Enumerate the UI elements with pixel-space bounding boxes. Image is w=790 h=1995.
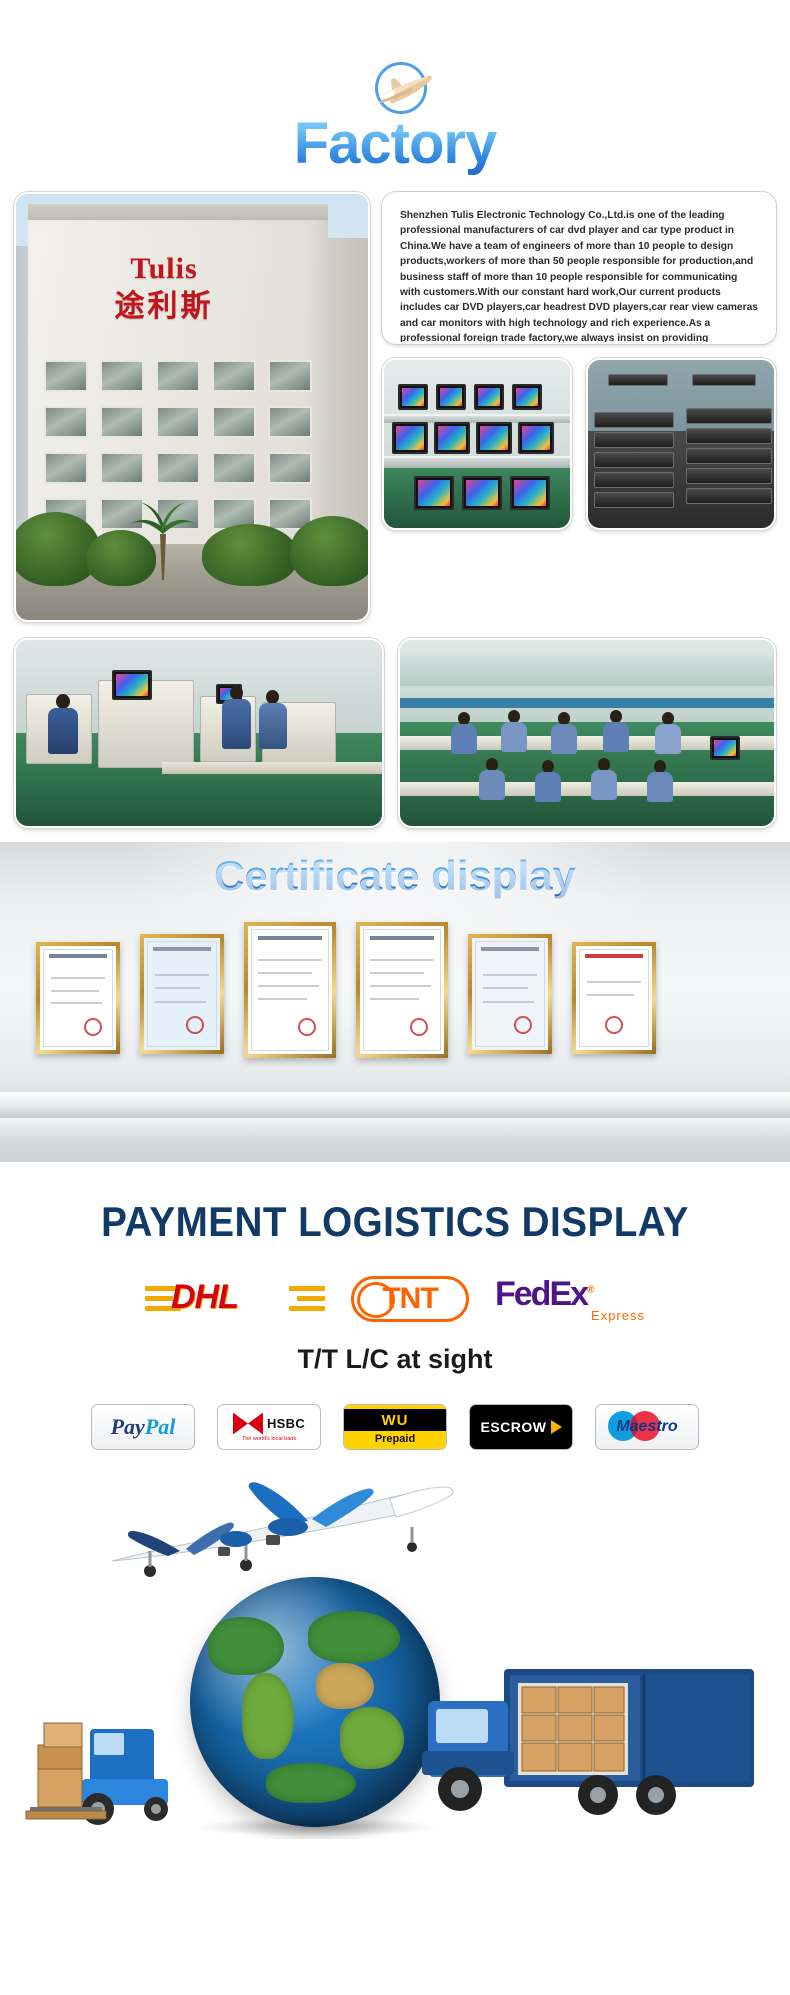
factory-photo-grid: Tulis 途利斯	[0, 192, 790, 842]
certificate-3[interactable]	[244, 922, 336, 1058]
certificate-6[interactable]	[572, 942, 656, 1054]
airplane-glyph	[371, 68, 433, 112]
smt-line-photo	[14, 638, 384, 828]
payment-terms: T/T L/C at sight	[0, 1344, 790, 1375]
payment-section: PAYMENT LOGISTICS DISPLAY DHL TNT FedEx®…	[0, 1162, 790, 1839]
courier-logo-row: DHL TNT FedEx® Express	[0, 1270, 790, 1328]
display-shelf-front	[0, 1118, 790, 1144]
display-shelf	[0, 1092, 790, 1118]
company-description-card: Shenzhen Tulis Electronic Technology Co.…	[382, 192, 776, 344]
company-description-text: Shenzhen Tulis Electronic Technology Co.…	[400, 208, 758, 344]
fedex-logo: FedEx® Express	[495, 1275, 645, 1323]
certificate-row	[0, 914, 790, 1054]
hsbc-sublabel: The world's local bank	[233, 1436, 305, 1442]
tnt-circle-shape	[357, 1282, 395, 1318]
fedex-label: FedEx	[495, 1275, 587, 1313]
building-sign: Tulis 途利斯	[64, 254, 264, 334]
wu-label-bottom: Prepaid	[375, 1431, 415, 1445]
paypal-label-1: Pay	[111, 1414, 145, 1439]
certificate-5[interactable]	[468, 934, 552, 1054]
assembly-hall-photo	[398, 638, 776, 828]
maestro-logo[interactable]: Maestro	[595, 1404, 699, 1450]
palm-tree-shape	[128, 488, 198, 580]
building-sign-cn: 途利斯	[64, 292, 264, 322]
hsbc-hexagon-icon	[233, 1413, 263, 1435]
certificate-4[interactable]	[356, 922, 448, 1058]
forklift-illustration	[20, 1683, 210, 1833]
factory-section: Factory Tulis 途利斯	[0, 0, 790, 842]
payment-title: PAYMENT LOGISTICS DISPLAY	[32, 1198, 759, 1246]
dhl-label: DHL	[171, 1278, 238, 1317]
paypal-label-2: Pal	[145, 1414, 176, 1439]
car-dvd-screens-photo	[382, 358, 572, 530]
page-root: Factory Tulis 途利斯	[0, 0, 790, 1995]
escrow-label: ESCROW	[481, 1419, 547, 1435]
maestro-label: Maestro	[616, 1418, 677, 1436]
western-union-logo[interactable]: WU Prepaid	[343, 1404, 447, 1450]
payment-method-row: PayPal HSBC The world's local bank WU Pr…	[0, 1401, 790, 1453]
certificate-section: Certificate display	[0, 842, 790, 1162]
wu-label-top: WU	[344, 1409, 446, 1431]
certificate-2[interactable]	[140, 934, 224, 1054]
logistics-illustration	[0, 1469, 790, 1839]
certificate-1[interactable]	[36, 942, 120, 1054]
building-sign-en: Tulis	[130, 252, 197, 285]
dhl-logo: DHL	[145, 1276, 325, 1322]
container-truck-illustration	[408, 1655, 768, 1835]
hsbc-logo[interactable]: HSBC The world's local bank	[217, 1404, 321, 1450]
escrow-arrow-icon	[551, 1420, 562, 1434]
globe-shadow	[196, 1817, 438, 1837]
certificate-title: Certificate display	[0, 852, 790, 900]
panel-boards-photo	[586, 358, 776, 530]
factory-building-photo: Tulis 途利斯	[14, 192, 370, 622]
page-title: Factory	[0, 110, 790, 177]
escrow-logo[interactable]: ESCROW	[469, 1404, 573, 1450]
globe-illustration	[190, 1577, 440, 1827]
tnt-logo: TNT	[351, 1276, 469, 1322]
factory-header: Factory	[0, 52, 790, 192]
paypal-logo[interactable]: PayPal	[91, 1404, 195, 1450]
hsbc-label: HSBC	[267, 1416, 305, 1431]
